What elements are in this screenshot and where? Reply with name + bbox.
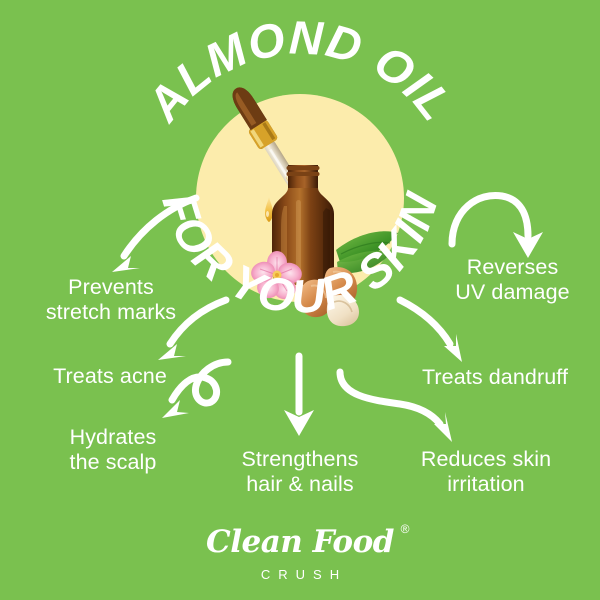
logo-script-text: Clean Food	[206, 524, 394, 560]
logo-crush-wordmark: CRUSH	[0, 567, 600, 582]
benefit-reduces-skin-irritation[interactable]: Reduces skin irritation	[396, 447, 576, 497]
logo-script-wordmark: Clean Food ®	[206, 527, 394, 558]
infographic-poster: ALMOND OIL FOR YOUR SKIN	[0, 0, 600, 600]
benefit-treats-acne[interactable]: Treats acne	[20, 364, 200, 389]
benefit-strengthens-hair-nails[interactable]: Strengthens hair & nails	[205, 447, 395, 497]
arrow-to-strengthens	[284, 356, 314, 436]
benefit-treats-dandruff[interactable]: Treats dandruff	[400, 365, 590, 390]
arrow-to-uv-damage	[452, 195, 543, 258]
benefit-hydrates-the-scalp[interactable]: Hydrates the scalp	[38, 425, 188, 475]
registered-trademark-icon: ®	[401, 523, 409, 535]
arrow-to-treats-dandruff	[400, 300, 462, 362]
brand-logo[interactable]: Clean Food ® CRUSH	[0, 527, 600, 582]
benefit-reverses-uv-damage[interactable]: Reverses UV damage	[430, 255, 595, 305]
arrow-to-stretch-marks	[112, 198, 196, 272]
benefit-prevents-stretch-marks[interactable]: Prevents stretch marks	[16, 275, 206, 325]
